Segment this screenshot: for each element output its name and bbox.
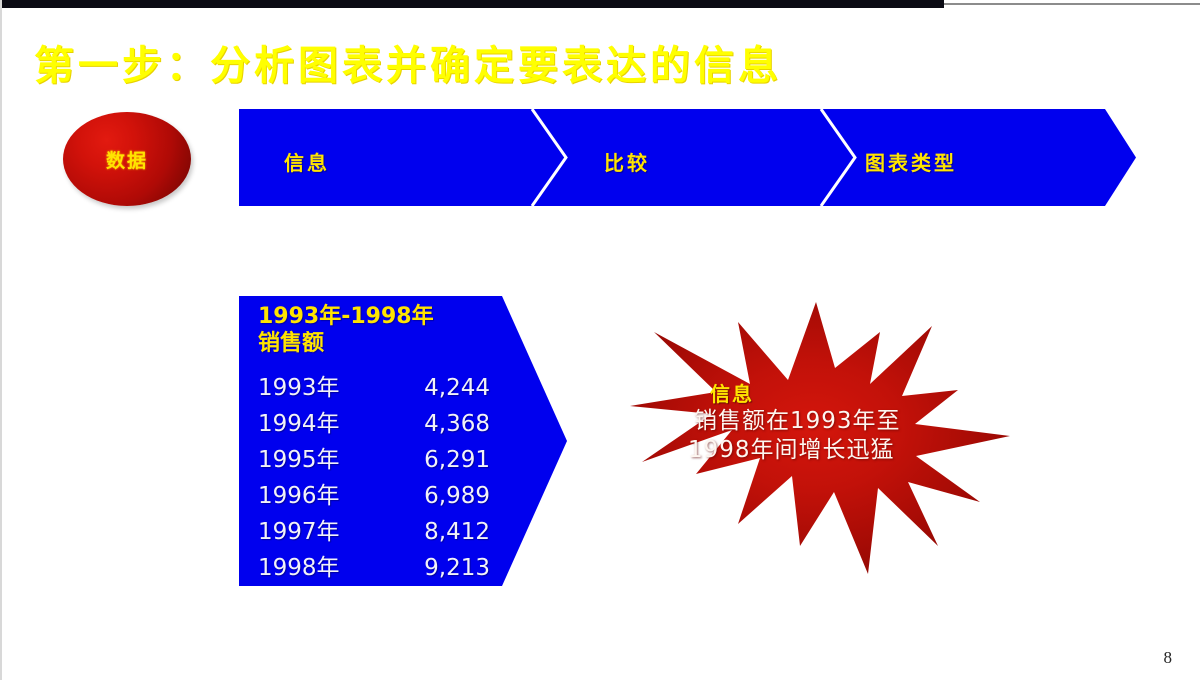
top-thin-rule <box>944 3 1200 5</box>
process-arrow-bar: 信息 比较 图表类型 <box>239 109 1136 206</box>
table-cell-value: 6,291 <box>370 447 490 473</box>
table-row: 1997年 8,412 <box>258 512 518 548</box>
table-row: 1996年 6,989 <box>258 476 518 512</box>
left-edge-rule <box>0 0 2 680</box>
table-cell-year: 1996年 <box>258 476 370 510</box>
table-row: 1994年 4,368 <box>258 404 518 440</box>
table-title-line-1: 1993年-1998年 <box>258 304 434 329</box>
table-title-line-2: 销售额 <box>258 331 434 358</box>
process-step-label-1[interactable]: 信息 <box>284 147 330 176</box>
top-decorative-bar <box>0 0 944 8</box>
page-number: 8 <box>1164 648 1173 668</box>
table-cell-value: 6,989 <box>370 483 490 509</box>
sales-data-table: 1993年-1998年 销售额 1993年 4,244 1994年 4,368 … <box>237 294 569 588</box>
table-row: 1998年 9,213 <box>258 548 518 584</box>
table-cell-year: 1998年 <box>258 548 370 582</box>
callout-line-1: 销售额在1993年至 <box>694 407 1020 436</box>
table-cell-value: 4,368 <box>370 411 490 437</box>
callout-heading: 信息 <box>710 378 1020 407</box>
page-title: 第一步：分析图表并确定要表达的信息 <box>34 33 782 91</box>
process-step-label-3[interactable]: 图表类型 <box>865 147 957 176</box>
table-cell-value: 8,412 <box>370 519 490 545</box>
slide-canvas: 第一步：分析图表并确定要表达的信息 数据 信息 比较 图表类型 1993年-19… <box>0 0 1200 680</box>
table-row: 1993年 4,244 <box>258 368 518 404</box>
table-row: 1995年 6,291 <box>258 440 518 476</box>
data-badge-label: 数据 <box>63 112 191 206</box>
table-cell-year: 1993年 <box>258 368 370 402</box>
table-cell-year: 1994年 <box>258 404 370 438</box>
table-cell-value: 4,244 <box>370 375 490 401</box>
sales-data-pentagon: 1993年-1998年 销售额 1993年 4,244 1994年 4,368 … <box>237 294 569 588</box>
process-arrow-shape <box>239 109 1136 206</box>
table-cell-year: 1995年 <box>258 440 370 474</box>
table-cell-year: 1997年 <box>258 512 370 546</box>
data-badge-ellipse: 数据 <box>63 112 191 206</box>
callout-line-2: 1998年间增长迅猛 <box>688 436 1020 465</box>
process-step-label-2[interactable]: 比较 <box>604 147 650 176</box>
insight-starburst-callout: 信息 销售额在1993年至 1998年间增长迅猛 <box>620 296 1020 574</box>
callout-text-block: 信息 销售额在1993年至 1998年间增长迅猛 <box>710 378 1020 466</box>
table-body: 1993年 4,244 1994年 4,368 1995年 6,291 1996… <box>258 368 518 584</box>
table-cell-value: 9,213 <box>370 555 490 581</box>
table-title: 1993年-1998年 销售额 <box>258 304 434 358</box>
